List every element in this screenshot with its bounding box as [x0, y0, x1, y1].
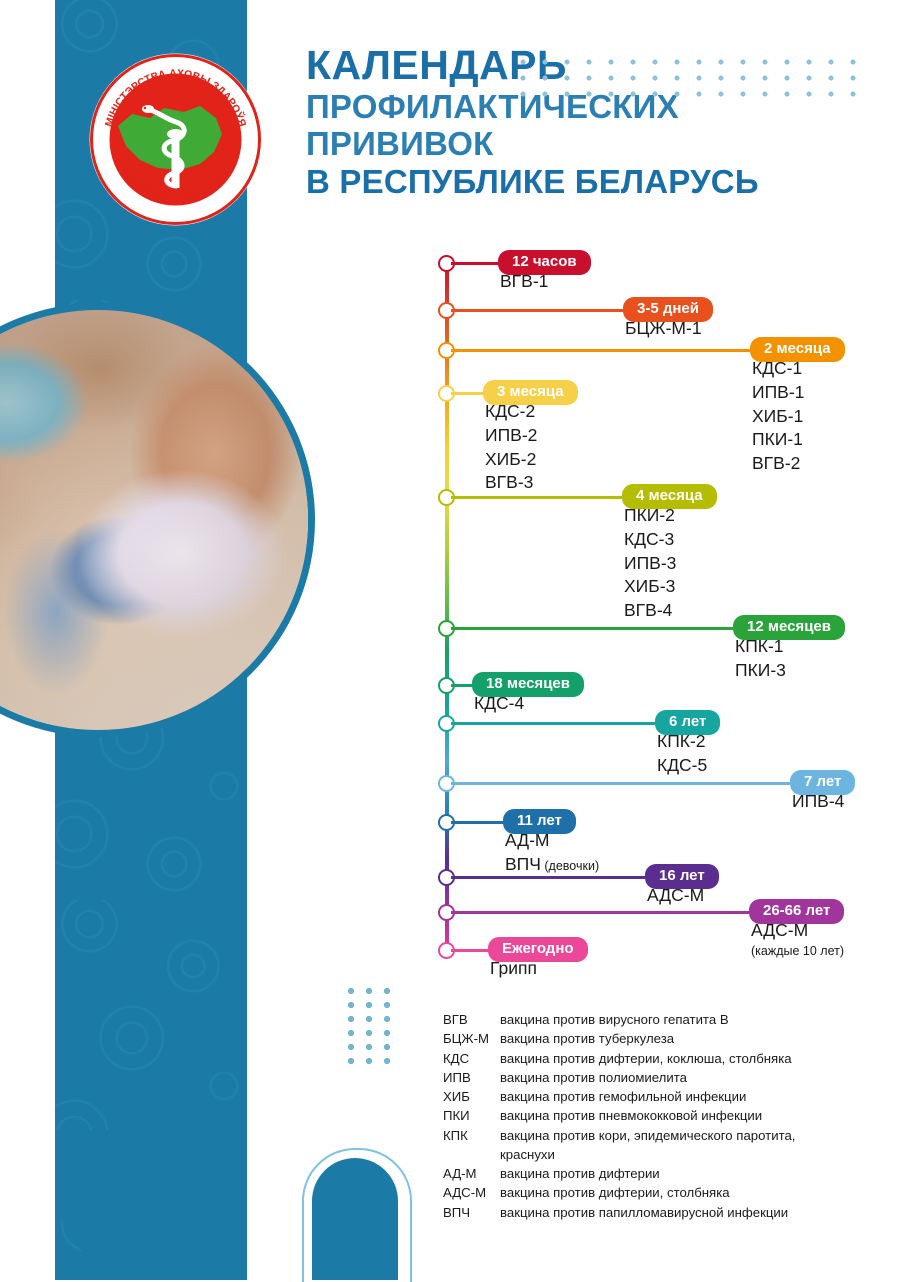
- timeline-vaccine-list: БЦЖ-М-1: [625, 317, 702, 341]
- vaccine-item: ВПЧ (девочки): [505, 853, 599, 877]
- timeline-vaccine-list: АДС-М: [647, 884, 704, 908]
- vaccine-item: КДС-5: [657, 754, 707, 778]
- legend-row: ХИБвакцина против гемофильной инфекции: [443, 1087, 873, 1106]
- vaccine-item: КДС-2: [485, 400, 537, 424]
- timeline-vaccine-list: АД-МВПЧ (девочки): [505, 829, 599, 877]
- timeline-connector: [451, 876, 645, 879]
- timeline-connector: [451, 782, 790, 785]
- vaccine-item: ПКИ-1: [752, 428, 804, 452]
- vaccine-item: КДС-4: [474, 692, 524, 716]
- vaccine-item: АДС-М: [751, 919, 844, 943]
- timeline-connector: [451, 821, 503, 824]
- legend-row: БЦЖ-Мвакцина против туберкулеза: [443, 1029, 873, 1048]
- timeline-connector: [451, 684, 472, 687]
- legend-description: вакцина против вирусного гепатита В: [500, 1010, 873, 1029]
- legend-abbreviation: АД-М: [443, 1164, 500, 1183]
- vaccine-note: (каждые 10 лет): [751, 943, 844, 960]
- vaccine-item: ВГВ-4: [624, 599, 676, 623]
- vaccine-item: ВГВ-2: [752, 452, 804, 476]
- legend-abbreviation: ИПВ: [443, 1068, 500, 1087]
- timeline-vaccine-list: ИПВ-4: [792, 790, 844, 814]
- timeline-connector: [451, 349, 750, 352]
- timeline-connector: [451, 627, 733, 630]
- timeline-vaccine-list: КДС-4: [474, 692, 524, 716]
- arch-decoration: [312, 1158, 398, 1280]
- vaccine-item: ИПВ-4: [792, 790, 844, 814]
- legend-row: ПКИвакцина против пневмококковой инфекци…: [443, 1106, 873, 1125]
- timeline-vaccine-list: КПК-1ПКИ-3: [735, 635, 786, 683]
- legend-dot-pattern: [340, 982, 394, 1068]
- vaccine-item: ХИБ-2: [485, 448, 537, 472]
- vaccine-item: АДС-М: [647, 884, 704, 908]
- legend-abbreviation: АДС-М: [443, 1183, 500, 1202]
- vaccine-note: (девочки): [541, 859, 599, 873]
- vaccine-item: ПКИ-2: [624, 504, 676, 528]
- vaccine-item: КДС-1: [752, 357, 804, 381]
- timeline-connector: [451, 949, 488, 952]
- timeline-connector: [451, 309, 623, 312]
- legend-row: ВПЧвакцина против папилломавирусной инфе…: [443, 1203, 873, 1222]
- legend-description: вакцина против папилломавирусной инфекци…: [500, 1203, 873, 1222]
- timeline-vaccine-list: КПК-2КДС-5: [657, 730, 707, 778]
- vaccine-item: ХИБ-3: [624, 575, 676, 599]
- timeline-vaccine-list: КДС-2ИПВ-2ХИБ-2ВГВ-3: [485, 400, 537, 495]
- vaccine-item: БЦЖ-М-1: [625, 317, 702, 341]
- timeline-vaccine-list: ПКИ-2КДС-3ИПВ-3ХИБ-3ВГВ-4: [624, 504, 676, 623]
- legend-abbreviation: ВГВ: [443, 1010, 500, 1029]
- legend-abbreviation: ХИБ: [443, 1087, 500, 1106]
- legend-description: вакцина против дифтерии, коклюша, столбн…: [500, 1049, 873, 1068]
- legend-abbreviation: БЦЖ-М: [443, 1029, 500, 1048]
- timeline-vaccine-list: ВГВ-1: [500, 270, 548, 294]
- legend-description: вакцина против туберкулеза: [500, 1029, 873, 1048]
- timeline-spine: [445, 258, 449, 958]
- legend-description: вакцина против дифтерии: [500, 1164, 873, 1183]
- legend-description: вакцина против дифтерии, столбняка: [500, 1183, 873, 1202]
- legend-abbreviation: ПКИ: [443, 1106, 500, 1125]
- legend-abbreviation: КДС: [443, 1049, 500, 1068]
- vaccine-item: КДС-3: [624, 528, 676, 552]
- vaccine-item: ИПВ-1: [752, 381, 804, 405]
- timeline-connector: [451, 911, 749, 914]
- vaccine-item: ПКИ-3: [735, 659, 786, 683]
- timeline-connector: [451, 722, 655, 725]
- vaccine-item: ИПВ-3: [624, 552, 676, 576]
- timeline-connector: [451, 392, 483, 395]
- timeline-vaccine-list: АДС-М(каждые 10 лет): [751, 919, 844, 960]
- legend-row: АДС-Мвакцина против дифтерии, столбняка: [443, 1183, 873, 1202]
- legend-row: КДСвакцина против дифтерии, коклюша, сто…: [443, 1049, 873, 1068]
- timeline-vaccine-list: КДС-1ИПВ-1ХИБ-1ПКИ-1ВГВ-2: [752, 357, 804, 476]
- legend-row: ВГВвакцина против вирусного гепатита В: [443, 1010, 873, 1029]
- legend-row: АД-Мвакцина против дифтерии: [443, 1164, 873, 1183]
- vaccine-item: ИПВ-2: [485, 424, 537, 448]
- vaccine-item: ВГВ-3: [485, 471, 537, 495]
- vaccine-item: ВГВ-1: [500, 270, 548, 294]
- timeline-vaccine-list: Грипп: [490, 957, 537, 981]
- legend-description: вакцина против гемофильной инфекции: [500, 1087, 873, 1106]
- vaccine-item: КПК-2: [657, 730, 707, 754]
- legend-abbreviation: КПК: [443, 1126, 500, 1145]
- vaccine-item: ХИБ-1: [752, 405, 804, 429]
- legend-description-continued: краснухи: [500, 1145, 873, 1164]
- legend-abbreviation: ВПЧ: [443, 1203, 500, 1222]
- vaccine-item: Грипп: [490, 957, 537, 981]
- legend-description: вакцина против полиомиелита: [500, 1068, 873, 1087]
- legend-description: вакцина против пневмококковой инфекции: [500, 1106, 873, 1125]
- legend-row: ИПВвакцина против полиомиелита: [443, 1068, 873, 1087]
- abbreviation-legend: ВГВвакцина против вирусного гепатита ВБЦ…: [443, 1010, 873, 1222]
- legend-row: КПКвакцина против кори, эпидемического п…: [443, 1126, 873, 1145]
- timeline-connector: [451, 496, 622, 499]
- timeline-connector: [451, 262, 498, 265]
- vaccine-item: АД-М: [505, 829, 599, 853]
- legend-description: вакцина против кори, эпидемического паро…: [500, 1126, 873, 1145]
- vaccine-item: КПК-1: [735, 635, 786, 659]
